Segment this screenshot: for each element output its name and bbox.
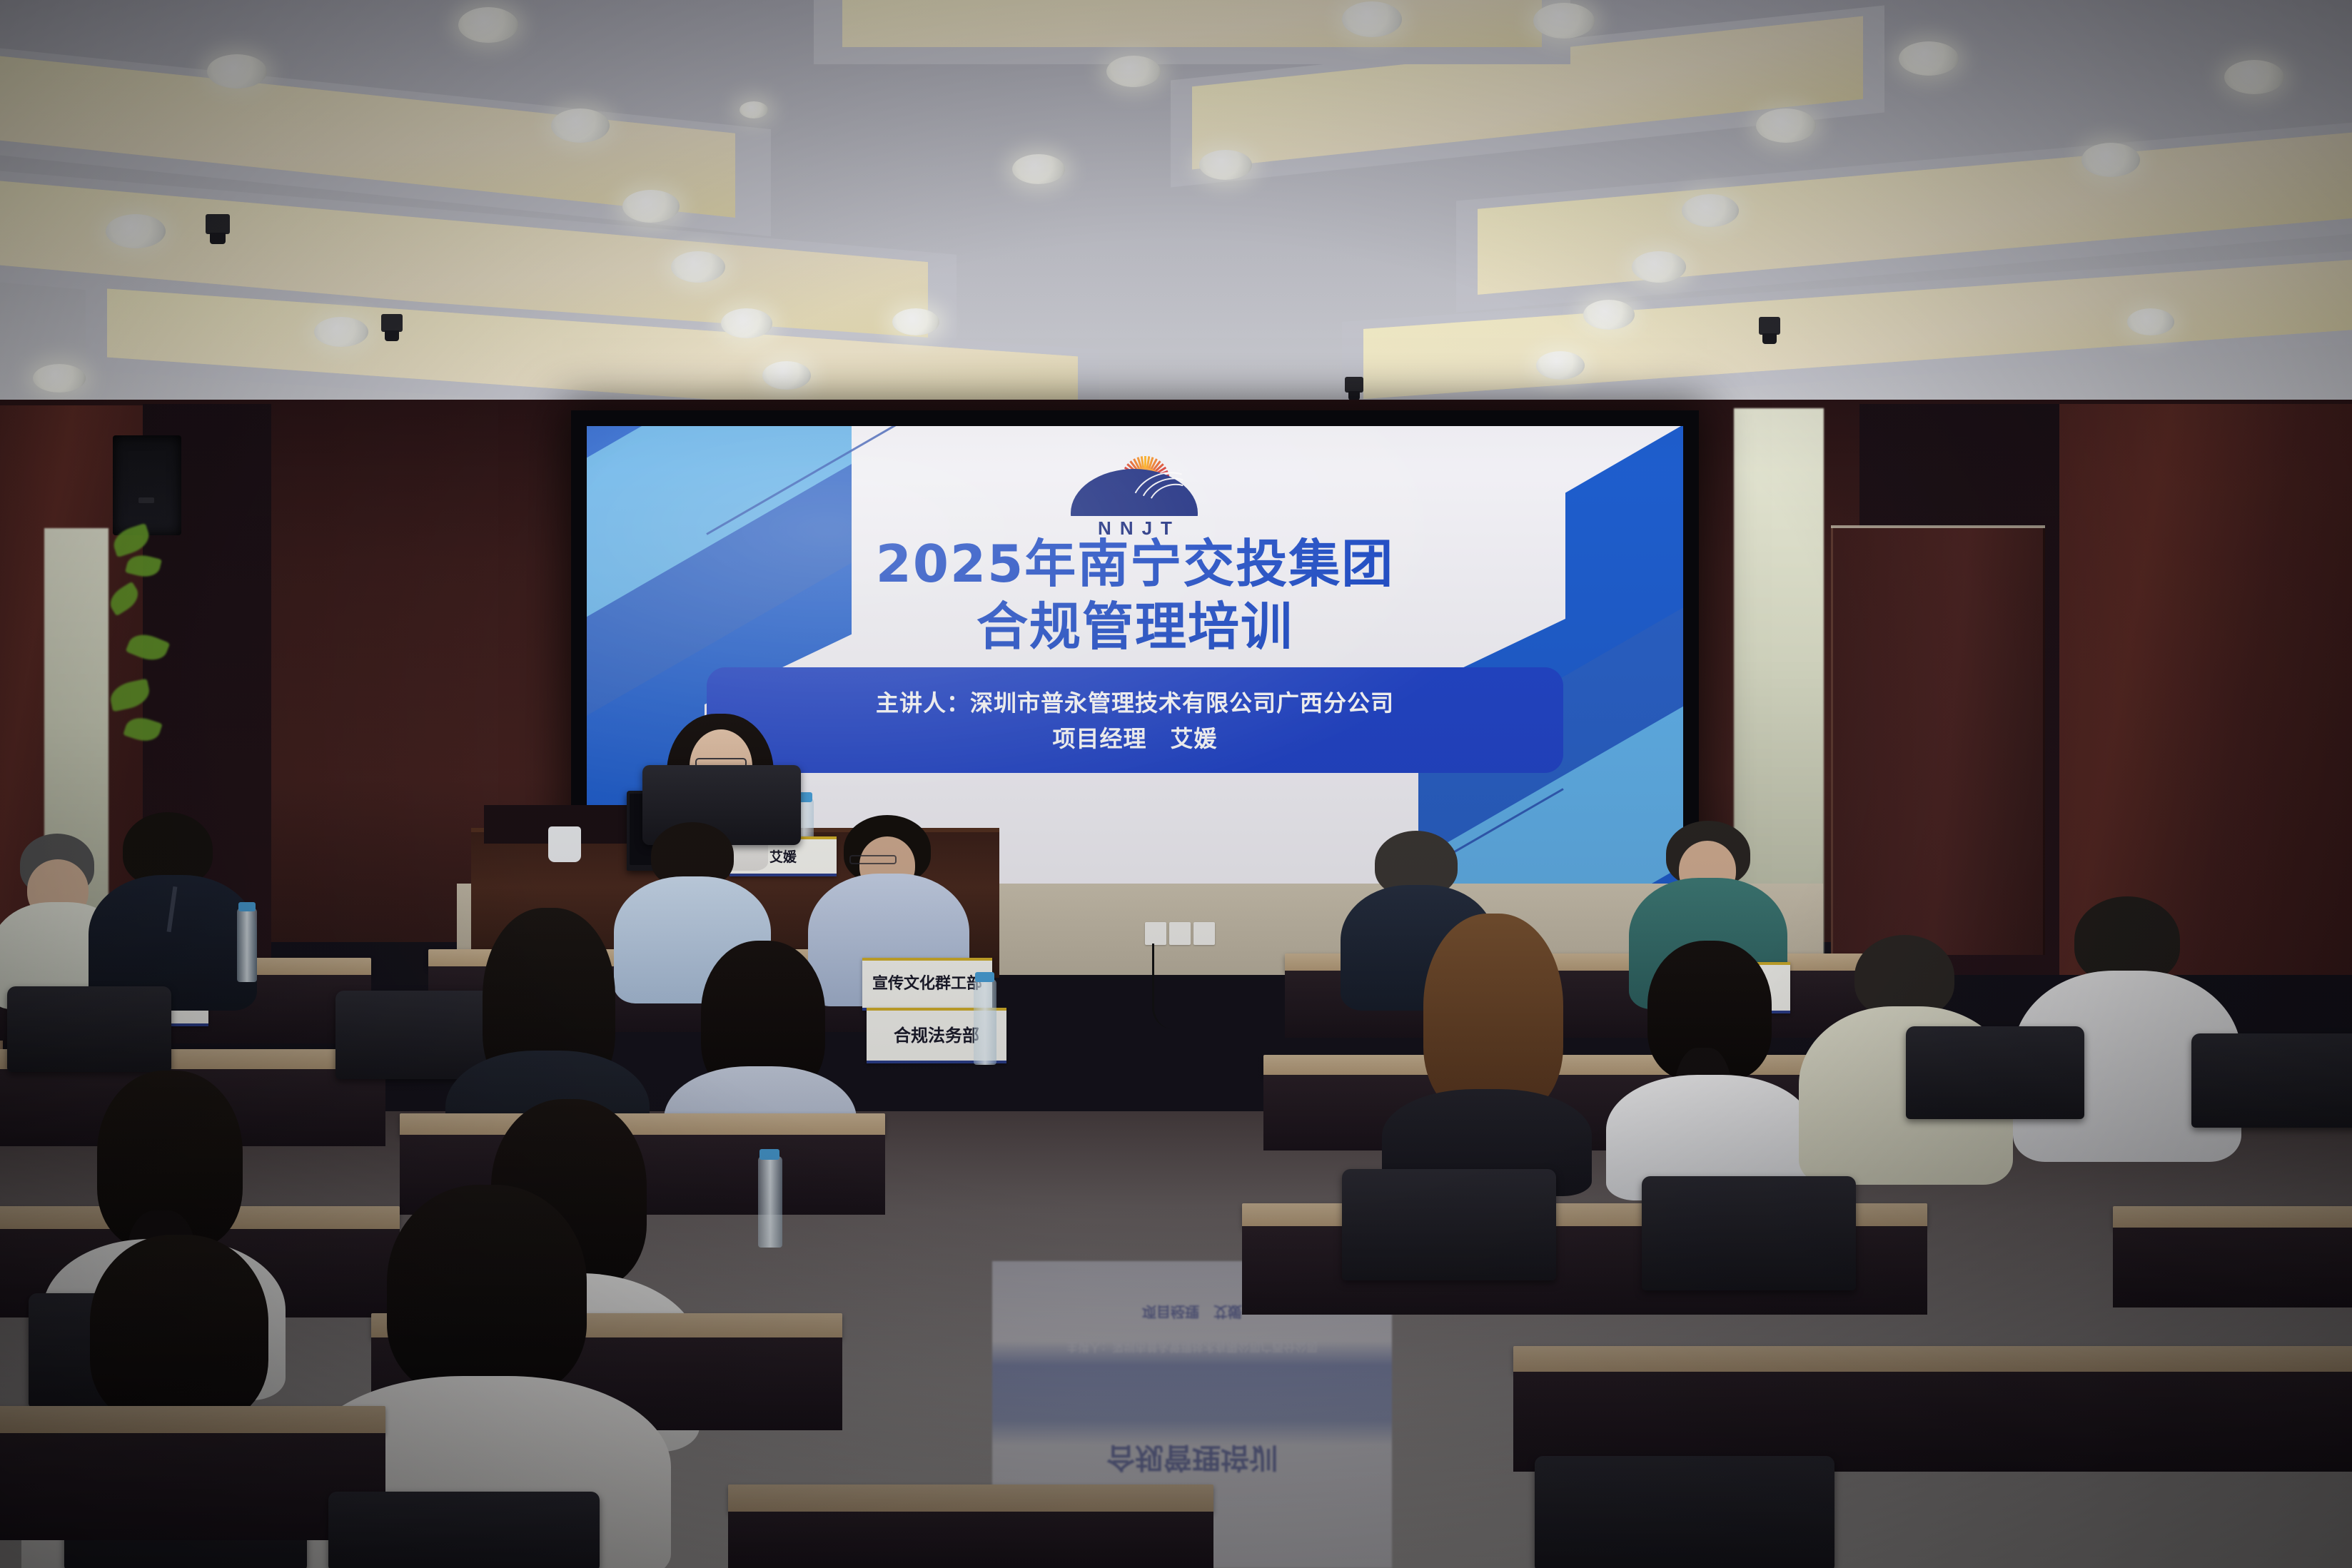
downlight	[1199, 150, 1252, 180]
downlight	[2127, 308, 2174, 335]
conference-room-photo: NNJT 2025年南宁交投集团 合规管理培训 主讲人：深圳市普永管理技术有限公…	[0, 0, 2352, 1568]
name-card-publicity: 宣传文化群工部	[862, 958, 992, 1011]
water-bottle-2-cap	[975, 972, 994, 982]
downlight	[551, 108, 610, 143]
chair-row3-r2[interactable]	[1642, 1176, 1856, 1290]
slide-title-line-2: 合规管理培训	[587, 596, 1683, 659]
downlight	[1533, 3, 1595, 39]
door-right[interactable]	[1831, 527, 2045, 955]
downlight	[671, 251, 725, 283]
downlight	[1632, 251, 1686, 283]
presenter-org-line: 主讲人：深圳市普永管理技术有限公司广西分公司	[707, 686, 1563, 722]
downlight	[1682, 194, 1739, 227]
desk-row4-left	[0, 1406, 385, 1568]
downlight	[458, 7, 518, 43]
slide-title: 2025年南宁交投集团 合规管理培训	[587, 533, 1683, 659]
water-bottle-3	[758, 1156, 782, 1248]
desk-row5-center	[728, 1484, 1213, 1568]
ceiling-camera-icon	[1759, 317, 1780, 335]
water-bottle-1	[237, 908, 257, 982]
nnjt-logo: NNJT	[1060, 450, 1210, 540]
floor-reflection-title: 合规管理培训	[992, 1440, 1392, 1481]
water-bottle-1-cap	[238, 902, 256, 911]
wall-outlet-4[interactable]	[1193, 922, 1215, 945]
downlight	[721, 308, 772, 338]
door-header-trim	[1831, 525, 2045, 528]
audience-r1-c2	[93, 812, 257, 1005]
slide-title-line-1: 2025年南宁交投集团	[587, 533, 1683, 596]
chair-row2-l1[interactable]	[7, 986, 171, 1072]
downlight	[207, 54, 267, 88]
desk-row4-far-right	[2113, 1206, 2352, 1370]
downlight	[314, 317, 368, 347]
audience-r2-c3	[1378, 914, 1592, 1163]
downlight	[1756, 108, 1816, 143]
downlight	[1536, 351, 1585, 380]
downlight	[762, 361, 811, 390]
chair-row3-r1[interactable]	[1342, 1169, 1556, 1280]
downlight	[1106, 56, 1161, 87]
plant-left	[107, 528, 186, 764]
downlight	[1342, 1, 1402, 37]
downlight	[1583, 300, 1635, 330]
audience-r2-c4	[1606, 941, 1813, 1176]
downlight	[740, 101, 768, 118]
ceiling-camera-icon	[206, 214, 230, 234]
water-bottle-3-cap	[759, 1149, 779, 1160]
wall-panel-right	[2052, 404, 2352, 975]
speaker-left	[113, 435, 181, 535]
power-cable	[1152, 944, 1174, 1029]
presenter-name-line: 项目经理 艾媛	[707, 722, 1563, 757]
slide-presenter-pill: 主讲人：深圳市普永管理技术有限公司广西分公司 项目经理 艾媛	[707, 667, 1563, 773]
water-bottle-2	[974, 979, 996, 1065]
chair-row2-r1[interactable]	[1906, 1026, 2084, 1119]
audience-glasses-icon	[849, 855, 897, 864]
wall-outlet-2[interactable]	[1145, 922, 1166, 945]
chair-row5-c1[interactable]	[1535, 1456, 1834, 1568]
name-card-publicity-label: 宣传文化群工部	[862, 961, 992, 1008]
chair-row2-r2[interactable]	[2191, 1033, 2352, 1128]
ceiling-camera-icon	[381, 314, 403, 332]
ceiling	[0, 0, 2352, 418]
downlight	[106, 214, 166, 248]
chair-row4-c1[interactable]	[328, 1492, 600, 1568]
downlight	[33, 364, 86, 393]
wall-outlet-3[interactable]	[1169, 922, 1191, 945]
downlight	[2224, 60, 2284, 94]
downlight	[892, 308, 939, 335]
downlight	[1012, 154, 1065, 184]
downlight	[2081, 143, 2140, 177]
downlight	[622, 190, 680, 223]
coffee-mug	[548, 826, 581, 862]
nnjt-road-sunrise-logo-icon	[1065, 450, 1205, 516]
ceiling-camera-icon	[1345, 377, 1363, 393]
downlight	[1899, 41, 1959, 76]
